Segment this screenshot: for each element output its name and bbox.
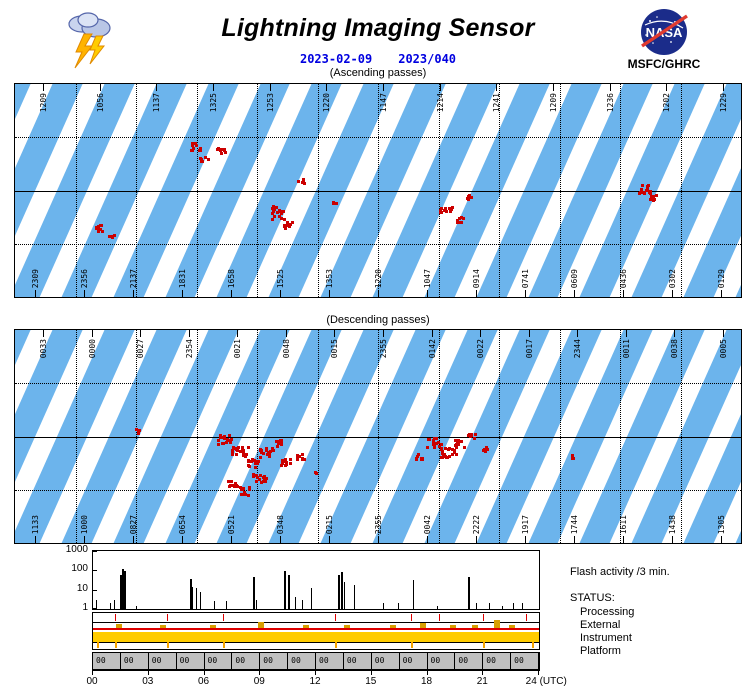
status-row-processing [93,613,539,622]
flash-activity-bar [476,603,477,609]
orbit-time-label-bottom: 1525 [276,269,285,288]
lightning-flash-marker [653,198,656,201]
y-axis-tick-label: 10 [28,583,88,594]
status-label-external: External [580,619,620,631]
orbit-tick-top [383,330,384,337]
lightning-flash-marker [463,446,466,449]
longitude-gridline [681,330,682,543]
orbit-time-label-bottom: 1438 [668,515,677,534]
time-axis-tick [538,670,539,675]
flash-activity-bar [302,600,303,609]
orbit-time-label-top: 0017 [525,339,534,358]
orbit-time-label-bottom: 1133 [31,515,40,534]
lightning-flash-marker [426,446,429,449]
lightning-flash-marker [281,459,284,462]
orbit-time-label-top: 1325 [209,93,218,112]
y-axis-tick [93,551,97,552]
external-activity-bump [116,624,122,628]
flash-activity-bar [214,601,215,609]
orbit-box[interactable]: 00 [232,653,260,669]
orbit-time-label-top: 0000 [88,339,97,358]
lightning-flash-marker [200,160,203,163]
orbit-time-label-bottom: 1305 [717,515,726,534]
orbit-time-label-top: 0022 [476,339,485,358]
page-title: Lightning Imaging Sensor [178,14,578,43]
lightning-flash-marker [278,215,281,218]
orbit-tick-top [140,330,141,337]
orbit-tick-bottom [427,536,428,543]
processing-event-tick [167,614,168,621]
processing-event-tick [411,614,412,621]
lightning-flash-marker [462,217,465,220]
orbit-time-label-top: 1202 [662,93,671,112]
time-axis-tick [259,670,260,675]
orbit-tick-top [577,330,578,337]
external-activity-bump [160,625,166,628]
orbit-box[interactable]: 00 [177,653,205,669]
flash-activity-bar [354,585,355,609]
lightning-flash-marker [219,149,222,152]
flash-activity-bar [489,603,490,609]
lightning-flash-marker [467,434,470,437]
flash-activity-bar [110,603,111,609]
orbit-tick-bottom [427,290,428,297]
lightning-flash-marker [297,180,300,183]
time-axis-tick-label: 06 [198,676,209,687]
time-axis-tick-label: 21 [477,676,488,687]
orbit-box[interactable]: 00 [121,653,149,669]
orbit-box[interactable]: 00 [483,653,511,669]
lightning-flash-marker [301,458,304,461]
external-activity-bump [344,625,350,628]
platform-event-tick [115,642,117,648]
orbit-tick-bottom [476,290,477,297]
lightning-flash-marker [571,455,574,458]
orbit-tick-top [100,84,101,91]
orbit-box[interactable]: 00 [205,653,233,669]
orbit-time-label-top: 0048 [282,339,291,358]
orbit-tick-bottom [231,290,232,297]
orbit-time-label-top: 2355 [379,339,388,358]
lightning-flash-marker [262,452,265,455]
orbit-time-label-bottom: 2356 [80,269,89,288]
external-activity-bump [258,622,264,628]
orbit-tick-bottom [280,536,281,543]
lightning-flash-marker [235,453,238,456]
orbit-tick-top [666,84,667,91]
orbit-box[interactable]: 00 [400,653,428,669]
orbit-tick-bottom [721,536,722,543]
lightning-flash-marker [228,485,231,488]
orbit-time-label-top: 1253 [266,93,275,112]
flash-activity-bar [200,592,201,609]
orbit-time-label-top: 1056 [96,93,105,112]
processing-event-tick [526,614,527,621]
time-axis-tick [371,670,372,675]
lightning-flash-marker [485,446,488,449]
orbit-time-label-top: 0038 [670,339,679,358]
orbit-time-label-top: 1220 [322,93,331,112]
orbit-time-label-top: 1241 [492,93,501,112]
orbit-tick-top [723,84,724,91]
platform-event-tick [411,642,413,648]
lightning-flash-marker [265,449,268,452]
flash-activity-bar [413,580,414,609]
longitude-gridline [681,84,682,297]
orbit-tick-top [92,330,93,337]
orbit-box[interactable]: 00 [149,653,177,669]
orbit-time-label-top: 1236 [606,93,615,112]
nasa-logo-icon: NASA [625,8,703,56]
longitude-gridline [499,330,500,543]
flash-activity-bar [253,577,255,609]
day-of-year: 2023/040 [398,52,456,66]
observation-date: 2023-02-09 [300,52,372,66]
orbit-tick-top [156,84,157,91]
orbit-tick-bottom [672,290,673,297]
lightning-flash-marker [427,438,430,441]
orbit-tick-bottom [182,290,183,297]
lightning-flash-marker [474,433,477,436]
time-axis-tick-label: 24 (UTC) [526,676,567,687]
lightning-flash-marker [200,158,203,161]
longitude-gridline [439,330,440,543]
orbit-tick-bottom [84,536,85,543]
lightning-flash-marker [99,228,102,231]
lightning-flash-marker [440,207,443,210]
orbit-time-label-bottom: 2355 [374,515,383,534]
lightning-flash-marker [435,442,438,445]
time-axis-line [92,670,540,671]
lightning-flash-marker [646,188,649,191]
lightning-flash-marker [100,224,103,227]
thunderstorm-icon [60,8,120,70]
lightning-flash-marker [234,447,237,450]
lightning-flash-marker [262,480,265,483]
lightning-flash-marker [242,449,245,452]
time-axis-tick-label: 03 [142,676,153,687]
flash-activity-bar [311,588,312,609]
orbit-tick-top [480,330,481,337]
orbit-time-label-top: 1209 [39,93,48,112]
lightning-flash-marker [137,432,140,435]
orbit-tick-top [286,330,287,337]
lightning-flash-marker [296,458,299,461]
orbit-time-label-top: 1214 [436,93,445,112]
orbit-tick-top [496,84,497,91]
longitude-gridline [197,84,198,297]
orbit-axis-boxes[interactable]: 00000000000000000000000000000000 [92,652,540,670]
lightning-flash-marker [444,208,447,211]
status-label-platform: Platform [580,645,621,657]
flash-activity-bar [338,575,340,609]
lightning-flash-marker [456,442,459,445]
lightning-flash-marker [135,428,138,431]
flash-activity-bar [284,571,286,609]
external-activity-bump [390,625,396,628]
lightning-flash-marker [191,149,194,152]
lightning-flash-marker [460,221,463,224]
orbit-box[interactable]: 00 [372,653,400,669]
longitude-gridline [76,84,77,297]
flash-activity-bar [513,603,514,609]
orbit-time-label-top: 1229 [719,93,728,112]
y-axis-tick-label: 1000 [28,544,88,555]
orbit-box[interactable]: 00 [511,653,539,669]
lightning-flash-marker [473,437,476,440]
orbit-tick-top [237,330,238,337]
lightning-flash-marker [280,441,283,444]
orbit-time-label-top: 0033 [39,339,48,358]
orbit-box[interactable]: 00 [428,653,456,669]
orbit-tick-bottom [329,536,330,543]
lightning-flash-marker [247,464,250,467]
orbit-time-label-bottom: 1000 [80,515,89,534]
lightning-flash-marker [448,447,451,450]
lightning-flash-marker [222,442,225,445]
processing-event-tick [335,614,336,621]
status-label-instrument: Instrument [580,632,632,644]
orbit-tick-bottom [133,536,134,543]
longitude-gridline [197,330,198,543]
flash-activity-label: Flash activity /3 min. [570,566,670,578]
orbit-tick-top [213,84,214,91]
platform-event-tick [483,642,485,648]
orbit-tick-top [43,330,44,337]
orbit-time-label-top: 0027 [136,339,145,358]
orbit-time-label-bottom: 1220 [374,269,383,288]
lightning-flash-marker [259,448,262,451]
lightning-flash-marker [111,235,114,238]
lightning-flash-marker [259,456,262,459]
orbit-time-label-bottom: 0914 [472,269,481,288]
longitude-gridline [378,330,379,543]
lightning-flash-marker [278,209,281,212]
external-activity-bump [210,625,216,628]
longitude-gridline [560,330,561,543]
platform-event-tick [223,642,225,648]
lightning-flash-marker [224,151,227,154]
lightning-flash-marker [448,207,451,210]
lightning-flash-marker [296,454,299,457]
lightning-flash-marker [640,188,643,191]
descending-passes-map[interactable]: 0033000000272354002100480015235501420022… [14,329,742,544]
longitude-gridline [318,330,319,543]
orbit-tick-bottom [721,290,722,297]
lightning-flash-marker [315,472,318,475]
flash-activity-bar [124,571,126,609]
orbit-time-label-bottom: 1744 [570,515,579,534]
orbit-box[interactable]: 00 [455,653,483,669]
lightning-flash-marker [271,218,274,221]
lightning-flash-marker [433,445,436,448]
flash-activity-bar [522,603,523,609]
lightning-flash-marker [272,205,275,208]
lightning-flash-marker [247,494,250,497]
time-axis-tick [92,670,93,675]
orbit-time-label-top: 2344 [573,339,582,358]
orbit-tick-bottom [84,290,85,297]
time-axis-tick-label: 09 [254,676,265,687]
external-activity-bump [450,625,456,628]
longitude-gridline [439,84,440,297]
time-axis-tick-label: 12 [309,676,320,687]
y-axis-tick [93,570,97,571]
orbit-tick-top [189,330,190,337]
time-axis-tick [204,670,205,675]
orbit-time-label-top: 0142 [428,339,437,358]
descending-subtitle: (Descending passes) [218,314,538,326]
flash-activity-bar [344,582,345,609]
agency-label: MSFC/GHRC [612,57,716,71]
time-axis-tick [148,670,149,675]
lightning-flash-marker [284,458,287,461]
orbit-tick-top [674,330,675,337]
orbit-tick-top [334,330,335,337]
y-axis-tick-label: 100 [28,563,88,574]
orbit-box[interactable]: 00 [288,653,316,669]
longitude-gridline [257,84,258,297]
time-axis-tick [427,670,428,675]
lightning-flash-marker [332,201,335,204]
orbit-time-label-top: 2354 [185,339,194,358]
orbit-box[interactable]: 00 [260,653,288,669]
orbit-tick-top [723,330,724,337]
lightning-flash-marker [444,447,447,450]
processing-event-tick [115,614,116,621]
orbit-time-label-bottom: 0654 [178,515,187,534]
orbit-tick-bottom [378,290,379,297]
longitude-gridline [257,330,258,543]
status-row-instrument [93,632,539,642]
orbit-tick-bottom [231,536,232,543]
orbit-box[interactable]: 00 [316,653,344,669]
flash-activity-plot[interactable] [92,550,540,610]
lightning-flash-marker [223,435,226,438]
processing-event-tick [483,614,484,621]
lightning-flash-marker [284,227,287,230]
flash-activity-bar [398,603,399,609]
flash-activity-panel: 00000000000000000000000000000000 1000100… [60,550,540,675]
orbit-tick-bottom [476,536,477,543]
orbit-tick-bottom [525,536,526,543]
orbit-time-label-bottom: 0827 [129,515,138,534]
orbit-time-label-bottom: 1831 [178,269,187,288]
platform-event-tick [167,642,169,648]
orbit-tick-bottom [672,536,673,543]
lightning-flash-marker [256,462,259,465]
time-axis-tick-label: 18 [421,676,432,687]
flash-activity-bar [192,587,193,609]
orbit-time-label-bottom: 0348 [276,515,285,534]
lightning-flash-marker [231,452,234,455]
orbit-tick-bottom [623,290,624,297]
lightning-flash-marker [220,152,223,155]
longitude-gridline [378,84,379,297]
lightning-flash-marker [247,459,250,462]
external-activity-bump [472,625,478,628]
flash-activity-bar [196,588,197,609]
orbit-time-label-bottom: 0436 [619,269,628,288]
lightning-flash-marker [285,463,288,466]
orbit-tick-bottom [574,290,575,297]
lightning-flash-marker [252,473,255,476]
lightning-flash-marker [456,219,459,222]
orbit-time-label-bottom: 1611 [619,515,628,534]
orbit-time-label-top: 0021 [233,339,242,358]
orbit-tick-bottom [525,290,526,297]
longitude-gridline [499,84,500,297]
platform-event-tick [97,642,99,648]
orbit-time-label-top: 1137 [152,93,161,112]
time-axis-tick [315,670,316,675]
flash-activity-bar [114,600,115,609]
lightning-flash-marker [266,453,269,456]
lightning-flash-marker [228,434,231,437]
lightning-flash-marker [451,453,454,456]
lightning-flash-marker [647,184,650,187]
orbit-time-label-bottom: 1917 [521,515,530,534]
orbit-tick-top [626,330,627,337]
longitude-gridline [136,84,137,297]
orbit-tick-bottom [378,536,379,543]
lightning-flash-marker [443,453,446,456]
time-axis-tick [482,670,483,675]
orbit-time-label-bottom: 1047 [423,269,432,288]
flash-activity-bar [96,600,97,609]
status-title: STATUS: [570,592,615,604]
lightning-flash-marker [271,212,274,215]
longitude-gridline [620,330,621,543]
status-strip[interactable] [92,612,540,650]
orbit-box[interactable]: 00 [344,653,372,669]
orbit-tick-top [270,84,271,91]
flash-activity-bar [341,572,343,609]
orbit-tick-bottom [329,290,330,297]
lightning-flash-marker [282,210,285,213]
orbit-tick-top [529,330,530,337]
lightning-flash-marker [415,458,418,461]
orbit-time-label-bottom: 0741 [521,269,530,288]
lightning-flash-marker [289,458,292,461]
longitude-gridline [620,84,621,297]
orbit-time-label-bottom: 2222 [472,515,481,534]
status-row-external [93,622,539,632]
processing-event-tick [439,614,440,621]
lightning-flash-marker [252,475,255,478]
orbit-tick-top [326,84,327,91]
lightning-flash-marker [242,452,245,455]
lightning-flash-marker [250,460,253,463]
date-line: 2023-02-092023/040 [218,52,538,66]
y-axis-tick-label: 1 [28,602,88,613]
lightning-flash-marker [276,445,279,448]
orbit-time-label-top: 1147 [379,93,388,112]
platform-event-tick [335,642,337,648]
y-axis-tick [93,590,97,591]
ascending-passes-map[interactable]: 1209105611371325125312201147121412411209… [14,83,742,298]
flash-activity-bar [136,606,137,609]
orbit-tick-top [553,84,554,91]
lightning-flash-marker [289,462,292,465]
time-axis-tick-label: 15 [365,676,376,687]
orbit-box[interactable]: 00 [93,653,121,669]
flash-activity-bar [437,606,438,609]
lightning-flash-marker [468,194,471,197]
status-row-platform [93,642,539,649]
page-header: Lightning Imaging Sensor 2023-02-092023/… [0,0,756,78]
orbit-time-label-bottom: 0302 [668,269,677,288]
